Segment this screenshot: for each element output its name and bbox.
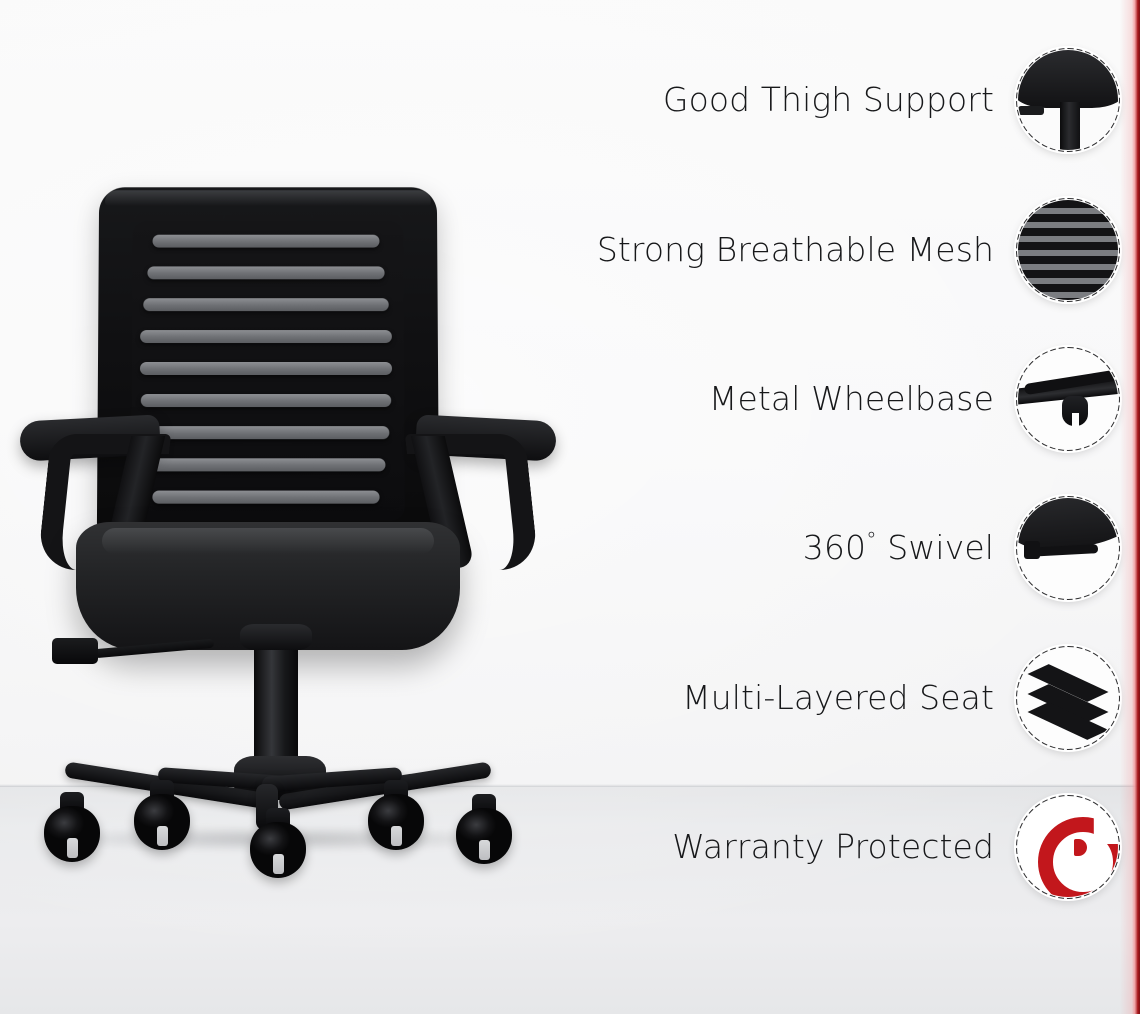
metal-wheelbase-icon (1016, 347, 1120, 451)
mesh-slat (140, 330, 392, 343)
feature-row-thigh-support: Good Thigh Support (520, 44, 1120, 156)
caster-slot (273, 854, 284, 874)
icon-swivel-knob (1024, 541, 1040, 559)
caster-slot (391, 826, 402, 846)
mesh-slat (141, 394, 391, 407)
chair-caster (250, 808, 306, 878)
chair-caster (368, 780, 424, 850)
office-chair-image (18, 186, 558, 906)
swivel-icon (1016, 496, 1120, 600)
mesh-slat (143, 298, 389, 311)
right-edge-accent-line (1132, 0, 1140, 1014)
caster-slot (67, 838, 78, 858)
icon-brand-c (1038, 817, 1118, 897)
chair-caster (456, 794, 512, 864)
caster-slot (157, 826, 168, 846)
feature-label-value: 360 (803, 528, 866, 567)
icon-lever (1018, 106, 1044, 115)
feature-list: Good Thigh Support Strong Breathable Mes… (520, 0, 1140, 1014)
mesh-slat (152, 491, 379, 504)
mesh-slat (147, 266, 384, 279)
feature-label-suffix: Swivel (877, 528, 994, 567)
chair-wheelbase (38, 756, 518, 848)
breathable-mesh-icon (1016, 198, 1120, 302)
degree-symbol: ° (866, 528, 877, 552)
feature-label: 360° Swivel (803, 530, 994, 566)
height-adjust-lever (52, 638, 182, 660)
feature-label: Metal Wheelbase (709, 381, 994, 417)
chair-mesh-panel (131, 221, 405, 521)
feature-row-breathable-mesh: Strong Breathable Mesh (520, 194, 1120, 306)
icon-seat-underside (1018, 50, 1118, 108)
lever-knob (52, 638, 98, 664)
caster-slot (479, 840, 490, 860)
feature-row-metal-wheelbase: Metal Wheelbase (520, 343, 1120, 455)
mesh-slat (153, 235, 380, 248)
thigh-support-icon (1016, 48, 1120, 152)
feature-row-multi-layered-seat: Multi-Layered Seat (520, 642, 1120, 754)
icon-mesh-stripes (1018, 200, 1118, 300)
mesh-slat (143, 426, 390, 439)
gas-lift-cylinder (254, 638, 298, 770)
chair-caster (44, 792, 100, 862)
mesh-slat (140, 362, 392, 375)
feature-label: Good Thigh Support (663, 82, 994, 118)
feature-row-warranty: Warranty Protected (520, 791, 1120, 903)
icon-caster-gap (1072, 413, 1079, 427)
lever-rod (94, 639, 214, 658)
feature-label: Strong Breathable Mesh (597, 232, 994, 268)
icon-column (1060, 102, 1080, 150)
feature-label: Multi-Layered Seat (682, 680, 994, 716)
feature-row-swivel: 360° Swivel (520, 492, 1120, 604)
mesh-slat (146, 458, 385, 471)
chair-caster (134, 780, 190, 850)
layers-icon (1016, 646, 1120, 750)
feature-label: Warranty Protected (672, 829, 994, 865)
product-infographic: Good Thigh Support Strong Breathable Mes… (0, 0, 1140, 1014)
warranty-logo-icon (1016, 795, 1120, 899)
